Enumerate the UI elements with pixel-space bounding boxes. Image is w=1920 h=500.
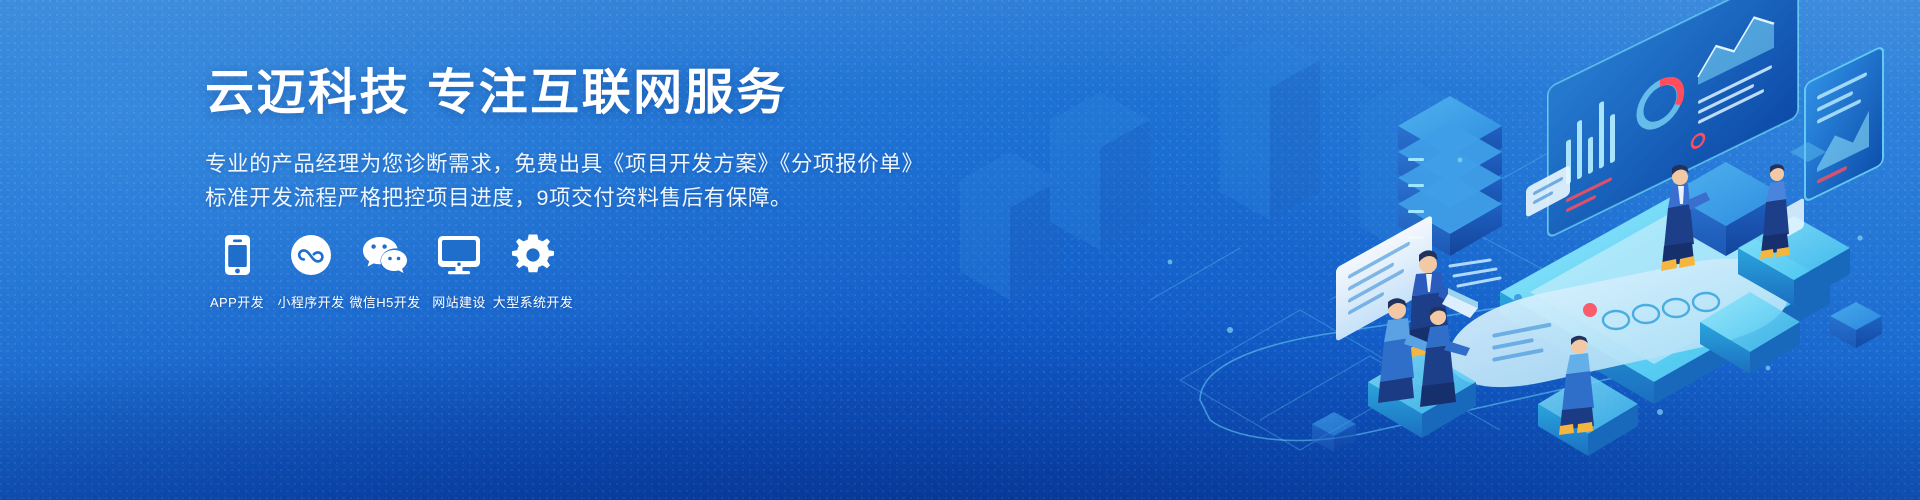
banner-subtitle-line-1: 专业的产品经理为您诊断需求，免费出具《项目开发方案》《分项报价单》 (205, 147, 925, 181)
service-item-large-system[interactable]: 大型系统开发 (496, 232, 570, 311)
service-label-large-system: 大型系统开发 (493, 292, 573, 311)
service-item-app[interactable]: APP开发 (200, 232, 274, 311)
mobile-phone-icon (224, 232, 251, 278)
banner-copy: 云迈科技 专注互联网服务 专业的产品经理为您诊断需求，免费出具《项目开发方案》《… (205, 66, 925, 215)
mini-program-icon (290, 232, 332, 278)
gear-icon (512, 232, 554, 278)
banner-subtitle-line-2: 标准开发流程严格把控项目进度，9项交付资料售后有保障。 (205, 181, 925, 215)
service-label-website: 网站建设 (432, 292, 486, 311)
service-item-miniprogram[interactable]: 小程序开发 (274, 232, 348, 311)
hero-banner: 云迈科技 专注互联网服务 专业的产品经理为您诊断需求，免费出具《项目开发方案》《… (0, 0, 1920, 500)
service-list: APP开发 小程序开发 微信 (200, 232, 570, 311)
service-label-app: APP开发 (210, 292, 264, 311)
service-item-website[interactable]: 网站建设 (422, 232, 496, 311)
monitor-icon (437, 232, 481, 278)
service-label-wechat-h5: 微信H5开发 (349, 292, 420, 311)
service-item-wechat-h5[interactable]: 微信H5开发 (348, 232, 422, 311)
service-label-miniprogram: 小程序开发 (277, 292, 344, 311)
isometric-illustration (900, 0, 1920, 500)
banner-headline: 云迈科技 专注互联网服务 (205, 66, 925, 121)
wechat-icon (362, 232, 408, 278)
